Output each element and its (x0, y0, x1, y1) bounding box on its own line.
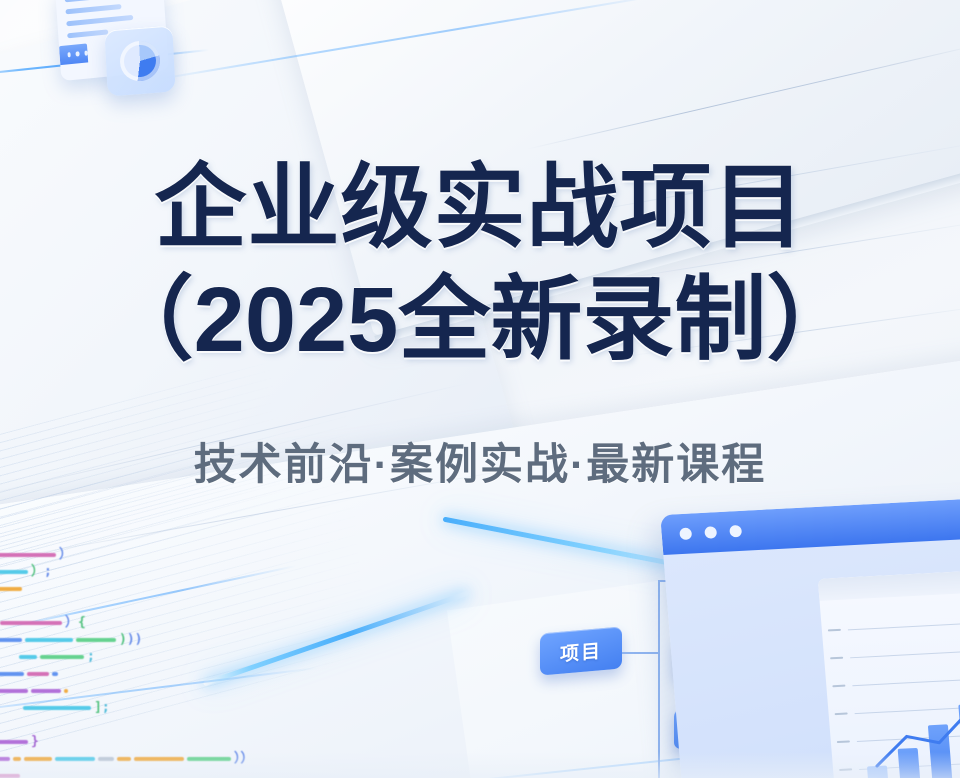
chart-trend-line (818, 569, 960, 778)
flowchart-root-label: 项目 (560, 636, 602, 667)
code-line (0, 580, 314, 597)
code-line (0, 597, 314, 614)
code-line (0, 665, 314, 682)
page-title-line-2: （2025全新录制） (0, 264, 960, 376)
flowchart-root-node: 项目 (540, 626, 622, 675)
flowchart-wire-spine (658, 580, 660, 778)
code-line: ; (0, 648, 314, 665)
window-dot-minimize-icon (704, 526, 717, 539)
course-banner: 企业级实战项目 （2025全新录制） 技术前沿·案例实战·最新课程 ） ）; ）… (0, 0, 960, 778)
browser-window-icon (44, 0, 194, 114)
flowchart-wire-root (622, 652, 660, 654)
headline-block: 企业级实战项目 （2025全新录制） (0, 152, 960, 376)
code-line (0, 682, 314, 699)
dashboard-chart-panel (818, 569, 960, 778)
page-subtitle: 技术前沿·案例实战·最新课程 (0, 430, 960, 492)
code-snippet-decoration: ） ）; ）{ ))) ; ]; } ）） (0, 546, 314, 778)
code-line: ]; (0, 699, 314, 716)
code-line: ） (0, 546, 314, 563)
code-line: ）; (0, 563, 314, 580)
guide-line-1 (526, 43, 960, 150)
code-line: ))) (0, 631, 314, 648)
dashboard-body (663, 538, 960, 778)
code-line: } (0, 733, 314, 750)
window-dots-icon (59, 43, 88, 65)
code-line (0, 716, 314, 733)
code-line: ）{ (0, 614, 314, 631)
bottom-fade (0, 752, 960, 778)
pie-chart-graphic (119, 39, 161, 82)
dashboard-window (660, 498, 960, 778)
accent-line-top (153, 0, 666, 81)
window-dot-maximize-icon (729, 525, 742, 538)
window-dot-close-icon (679, 528, 692, 541)
page-title-line-1: 企业级实战项目 (0, 152, 960, 264)
pie-chart-icon (104, 25, 175, 96)
